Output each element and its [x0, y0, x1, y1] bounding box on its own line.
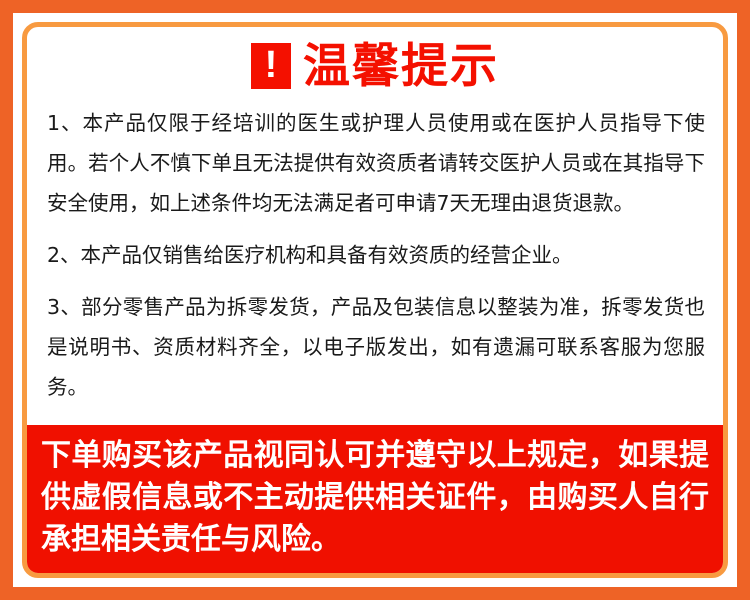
exclamation-glyph: ! [265, 46, 278, 84]
notice-inner-frame: ! 温馨提示 1、本产品仅限于经培训的医生或护理人员使用或在医护人员指导下使用。… [22, 22, 728, 578]
notice-item-1: 1、本产品仅限于经培训的医生或护理人员使用或在医护人员指导下使用。若个人不慎下单… [47, 103, 705, 223]
agreement-banner-text: 下单购买该产品视同认可并遵守以上规定，如果提供虚假信息或不主动提供相关证件，由购… [41, 435, 709, 561]
notice-item-3: 3、部分零售产品为拆零发货，产品及包装信息以整装为准，拆零发货也是说明书、资质材… [47, 287, 705, 407]
notice-header: ! 温馨提示 [27, 27, 723, 97]
notice-item-2: 2、本产品仅销售给医疗机构和具备有效资质的经营企业。 [47, 235, 705, 275]
page-title: 温馨提示 [303, 43, 499, 90]
notice-body: 1、本产品仅限于经培训的医生或护理人员使用或在医护人员指导下使用。若个人不慎下单… [27, 97, 723, 459]
exclamation-icon: ! [251, 43, 291, 89]
warning-notice-card: ! 温馨提示 1、本产品仅限于经培训的医生或护理人员使用或在医护人员指导下使用。… [0, 0, 750, 600]
agreement-banner: 下单购买该产品视同认可并遵守以上规定，如果提供虚假信息或不主动提供相关证件，由购… [27, 425, 723, 573]
